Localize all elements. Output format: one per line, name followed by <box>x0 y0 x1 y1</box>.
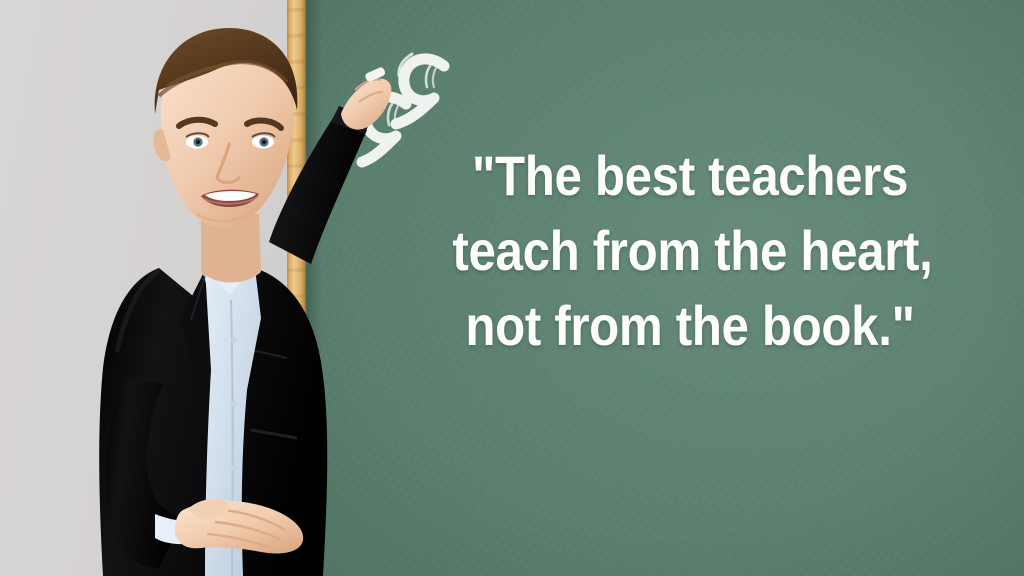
quote-line-2: teach from the heart, <box>452 213 927 288</box>
quote-text: "The best teachers teach from the heart,… <box>452 138 927 363</box>
quote-line-1: "The best teachers <box>452 138 927 213</box>
smiling-male-teacher <box>55 18 395 576</box>
quote-line-3: not from the book." <box>452 288 927 363</box>
quote-graphic-canvas: "The best teachers teach from the heart,… <box>0 0 1024 576</box>
chalk-quote-right-icon <box>396 54 444 124</box>
chalk-hand <box>341 66 391 129</box>
